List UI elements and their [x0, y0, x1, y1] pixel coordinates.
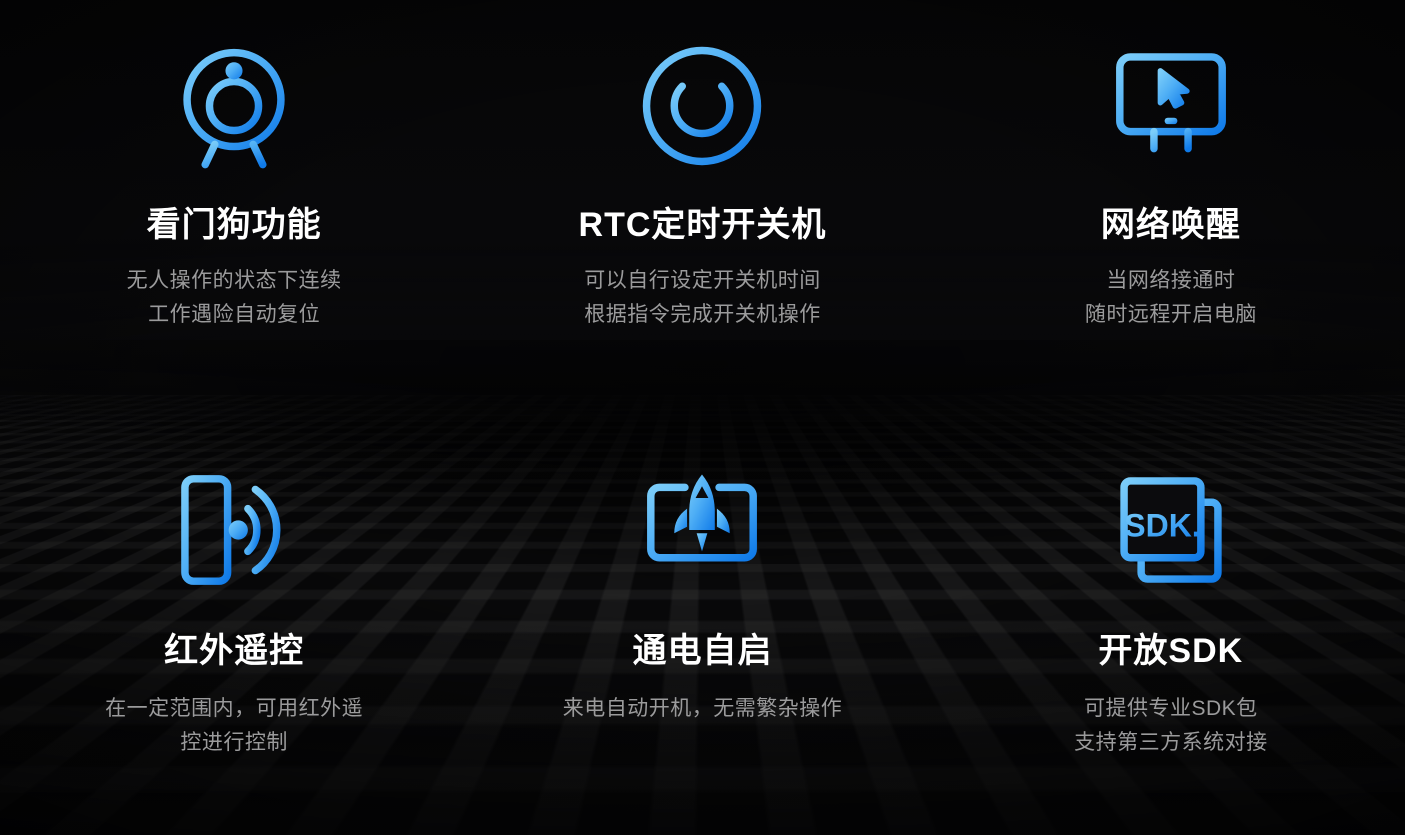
feature-title: 红外遥控: [164, 634, 304, 668]
feature-description: 可提供专业SDK包 支持第三方系统对接: [1074, 692, 1268, 760]
feature-card-auto-power-on[interactable]: 通电自启 来电自动开机，无需繁杂操作: [468, 418, 936, 835]
feature-title: RTC定时开关机: [579, 208, 827, 242]
sdk-windows-icon: SDK.: [1107, 466, 1235, 594]
ir-remote-icon: [170, 466, 298, 594]
feature-description: 在一定范围内，可用红外遥 控进行控制: [105, 692, 363, 760]
feature-card-watchdog[interactable]: 看门狗功能 无人操作的状态下连续 工作遇险自动复位: [0, 0, 468, 418]
features-grid: 看门狗功能 无人操作的状态下连续 工作遇险自动复位 RTC定时开关机 可以自行设…: [0, 0, 1405, 835]
feature-grid-page: 看门狗功能 无人操作的状态下连续 工作遇险自动复位 RTC定时开关机 可以自行设…: [0, 0, 1405, 835]
feature-description: 来电自动开机，无需繁杂操作: [563, 692, 843, 726]
sdk-label: SDK.: [1124, 507, 1200, 543]
feature-title: 通电自启: [632, 634, 772, 668]
feature-description: 当网络接通时 随时远程开启电脑: [1085, 264, 1257, 332]
power-button-icon: [638, 42, 766, 170]
feature-description: 可以自行设定开关机时间 根据指令完成开关机操作: [584, 264, 821, 332]
feature-card-rtc-timer[interactable]: RTC定时开关机 可以自行设定开关机时间 根据指令完成开关机操作: [468, 0, 936, 418]
webcam-icon: [170, 42, 298, 170]
feature-title: 开放SDK: [1098, 634, 1243, 668]
feature-description: 无人操作的状态下连续 工作遇险自动复位: [127, 264, 342, 332]
feature-card-wake-on-lan[interactable]: 网络唤醒 当网络接通时 随时远程开启电脑: [937, 0, 1405, 418]
feature-title: 看门狗功能: [147, 208, 322, 242]
monitor-cursor-icon: [1107, 42, 1235, 170]
feature-card-ir-remote[interactable]: 红外遥控 在一定范围内，可用红外遥 控进行控制: [0, 418, 468, 835]
feature-card-open-sdk[interactable]: SDK. 开放SDK 可提供专业SDK包 支持第三方系统对接: [937, 418, 1405, 835]
monitor-rocket-icon: [638, 466, 766, 594]
feature-title: 网络唤醒: [1101, 208, 1241, 242]
